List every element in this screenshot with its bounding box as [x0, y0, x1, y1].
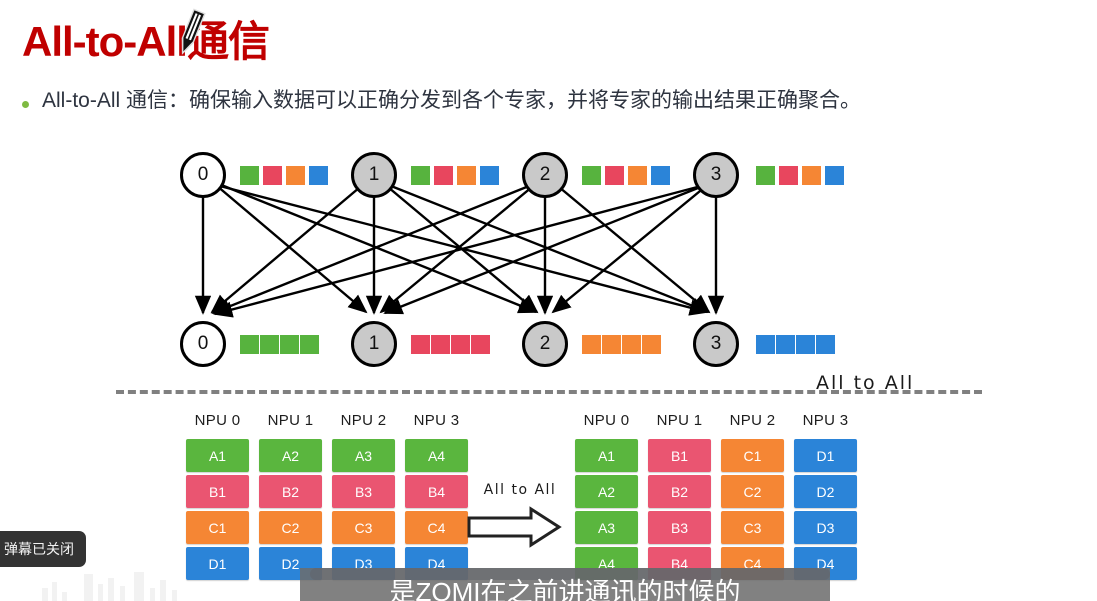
chips-top-3 [756, 166, 848, 185]
table-cell: A3 [332, 439, 395, 472]
table-cell: D3 [794, 511, 857, 544]
table-column: NPU 0 A1 A2 A3 A4 [575, 412, 638, 583]
chip-green [582, 166, 601, 185]
table-cell: B1 [186, 475, 249, 508]
column-header: NPU 1 [259, 412, 322, 429]
chip-blue [825, 166, 844, 185]
chip-blue [816, 335, 835, 354]
column-header: NPU 2 [332, 412, 395, 429]
graph-node-bottom-0[interactable]: 0 [180, 321, 226, 367]
graph-node-top-2[interactable]: 2 [522, 152, 568, 198]
chip-orange [622, 335, 641, 354]
table-cell: D1 [794, 439, 857, 472]
table-column: NPU 0 A1 B1 C1 D1 [186, 412, 249, 583]
chip-green [411, 166, 430, 185]
chip-blue [796, 335, 815, 354]
chip-blue [776, 335, 795, 354]
subtitle-text: 是ZOMI在之前讲通讯的时候的 [300, 572, 830, 601]
chip-blue [756, 335, 775, 354]
chip-blue [309, 166, 328, 185]
chip-orange [642, 335, 661, 354]
table-cell: C2 [721, 475, 784, 508]
table-column: NPU 1 B1 B2 B3 B4 [648, 412, 711, 583]
column-header: NPU 3 [405, 412, 468, 429]
chip-green [240, 166, 259, 185]
table-cell: B4 [405, 475, 468, 508]
chip-orange [582, 335, 601, 354]
table-cell: C1 [186, 511, 249, 544]
chip-pink [263, 166, 282, 185]
table-column: NPU 3 A4 B4 C4 D4 [405, 412, 468, 583]
chip-pink [431, 335, 450, 354]
chip-pink [411, 335, 430, 354]
table-cell: A1 [575, 439, 638, 472]
graph-node-bottom-2[interactable]: 2 [522, 321, 568, 367]
graph-node-bottom-3[interactable]: 3 [693, 321, 739, 367]
table-cell: C3 [332, 511, 395, 544]
chip-orange [286, 166, 305, 185]
table-cell: D1 [186, 547, 249, 580]
chip-orange [628, 166, 647, 185]
table-cell: D2 [794, 475, 857, 508]
table-cell: C1 [721, 439, 784, 472]
danmaku-closed-tooltip: 弹幕已关闭 [0, 531, 86, 567]
chips-bottom-0 [240, 335, 320, 354]
chip-pink [471, 335, 490, 354]
column-header: NPU 0 [186, 412, 249, 429]
chips-top-2 [582, 166, 674, 185]
chip-blue [651, 166, 670, 185]
chips-top-0 [240, 166, 332, 185]
table-column: NPU 1 A2 B2 C2 D2 [259, 412, 322, 583]
chips-bottom-3 [756, 335, 836, 354]
chip-orange [457, 166, 476, 185]
all-to-all-label-mid: All to All [465, 482, 575, 498]
slide-canvas: All-to-All通信 All-to-All 通信：确保输入数据可以正确分发到… [0, 0, 1097, 601]
chip-orange [802, 166, 821, 185]
npu-table-before: NPU 0 A1 B1 C1 D1 NPU 1 A2 B2 C2 D2 NPU … [186, 412, 468, 583]
table-cell: C4 [405, 511, 468, 544]
graph-node-top-1[interactable]: 1 [351, 152, 397, 198]
graph-node-bottom-1[interactable]: 1 [351, 321, 397, 367]
chip-blue [480, 166, 499, 185]
graph-node-top-0[interactable]: 0 [180, 152, 226, 198]
chip-green [260, 335, 279, 354]
table-cell: B2 [259, 475, 322, 508]
table-cell: A1 [186, 439, 249, 472]
all-to-all-graph: 0 1 2 3 0 [0, 130, 1097, 392]
section-divider [116, 390, 982, 394]
chip-orange [602, 335, 621, 354]
bullet-text: All-to-All 通信：确保输入数据可以正确分发到各个专家，并将专家的输出结… [42, 88, 861, 114]
table-column: NPU 3 D1 D2 D3 D4 [794, 412, 857, 583]
bullet-dot-icon [22, 101, 29, 108]
graph-node-top-3[interactable]: 3 [693, 152, 739, 198]
table-cell: C2 [259, 511, 322, 544]
chip-green [300, 335, 319, 354]
table-cell: A2 [259, 439, 322, 472]
right-arrow-icon [465, 506, 565, 548]
table-cell: B1 [648, 439, 711, 472]
chip-green [756, 166, 775, 185]
table-cell: C3 [721, 511, 784, 544]
all-to-all-transform: All to All [465, 482, 575, 553]
chip-pink [434, 166, 453, 185]
chip-green [280, 335, 299, 354]
table-cell: A3 [575, 511, 638, 544]
column-header: NPU 0 [575, 412, 638, 429]
bullet-row: All-to-All 通信：确保输入数据可以正确分发到各个专家，并将专家的输出结… [22, 88, 1072, 114]
table-cell: B3 [648, 511, 711, 544]
chip-pink [779, 166, 798, 185]
table-cell: A4 [405, 439, 468, 472]
chips-bottom-1 [411, 335, 491, 354]
chip-pink [451, 335, 470, 354]
table-cell: B3 [332, 475, 395, 508]
npu-table-after: NPU 0 A1 A2 A3 A4 NPU 1 B1 B2 B3 B4 NPU … [575, 412, 857, 583]
page-title: All-to-All通信 [22, 8, 269, 69]
table-column: NPU 2 A3 B3 C3 D3 [332, 412, 395, 583]
column-header: NPU 1 [648, 412, 711, 429]
table-column: NPU 2 C1 C2 C3 C4 [721, 412, 784, 583]
chip-green [240, 335, 259, 354]
column-header: NPU 2 [721, 412, 784, 429]
chips-top-1 [411, 166, 503, 185]
chip-pink [605, 166, 624, 185]
chips-bottom-2 [582, 335, 662, 354]
table-cell: B2 [648, 475, 711, 508]
table-cell: A2 [575, 475, 638, 508]
column-header: NPU 3 [794, 412, 857, 429]
